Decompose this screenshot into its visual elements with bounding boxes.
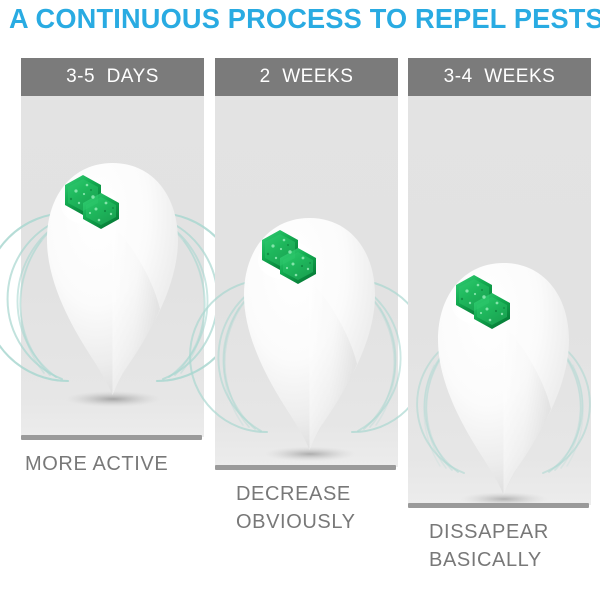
stage-2-caption-rule: [215, 465, 396, 470]
stage-2-duration-bar: 2 WEEKS: [215, 58, 398, 96]
stage-1-caption: MORE ACTIVE: [25, 450, 225, 478]
page-title: A CONTINUOUS PROCESS TO REPEL PESTS: [9, 2, 591, 36]
stage-1-duration-label: 3-5 DAYS: [21, 58, 204, 96]
stage-3-panel: [408, 96, 591, 505]
stage-2-duration-label: 2 WEEKS: [215, 58, 398, 96]
stage-2-caption: DECREASE OBVIOUSLY: [236, 480, 436, 536]
stage-1-caption-rule: [21, 435, 202, 440]
stage-3-caption-rule: [408, 503, 589, 508]
stage-3-duration-bar: 3-4 WEEKS: [408, 58, 591, 96]
stage-1-duration-bar: 3-5 DAYS: [21, 58, 204, 96]
stage-3-duration-label: 3-4 WEEKS: [408, 58, 591, 96]
stage-3-caption: DISSAPEAR BASICALLY: [429, 518, 600, 574]
stage-2-panel: [215, 96, 398, 467]
stage-1-panel: [21, 96, 204, 437]
infographic-canvas: A CONTINUOUS PROCESS TO REPEL PESTS 3-5 …: [0, 0, 600, 600]
